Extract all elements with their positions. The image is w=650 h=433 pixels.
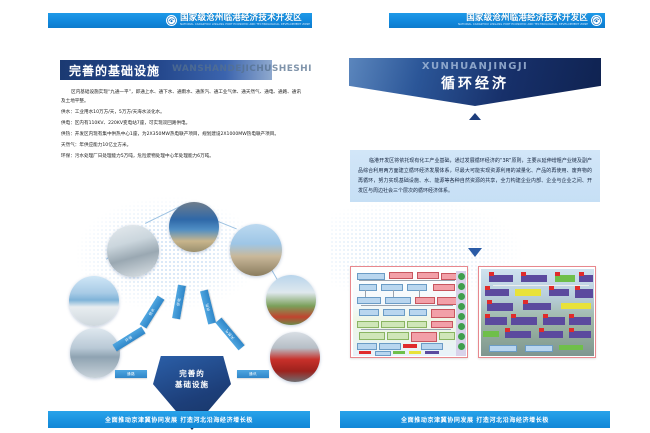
banner-pinyin: XUNHUANJINGJI [422,61,528,72]
paragraph-heat: 供热：开发区内现有集中供热中心1座，为2X350MW热电联产项目，规划建设2X1… [61,130,301,139]
infrastructure-body-text: 区内基础设施实现“九通一平”，即通上水、通下水、通雨水、通蒸汽、通工业气体、通天… [61,88,301,163]
banner-accent-triangle-icon [469,113,481,120]
photo-fire-truck [270,332,320,382]
diagram-circular-economy-flowchart-1 [350,266,468,358]
photo-greenhouse [266,275,316,325]
paragraph-gas: 天然气：年供应能力10亿立方米。 [61,141,301,150]
zone-logo-icon [166,15,177,26]
header-title-cn-right: 国家级沧州临港经济技术开发区 [466,14,588,23]
bubble-railway-photo [107,225,159,277]
diagram-canvas-2 [481,269,594,356]
header-bar-right: 国家级沧州临港经济技术开发区 NATIONAL CANGZHOU LINGANG… [389,13,605,28]
footer-bar-right: 全面推动京津冀协同发展 打造河北沿海经济增长极 [340,411,610,428]
down-arrow-icon [468,248,482,257]
tag-item: 环保 [112,327,145,352]
paragraph-overview: 区内基础设施实现“九通一平”，即通上水、通下水、通雨水、通蒸汽、通工业气体、通天… [61,88,301,107]
header-title-en-right: NATIONAL CANGZHOU LINGANG PORT ECONOMIC … [458,24,588,27]
bubble-greenhouse-photo [266,275,316,325]
photo-railway [107,225,159,277]
diamond-label-line2: 基础设施 [175,379,209,390]
bubble-powerplant-photo [230,224,282,276]
right-panel: XUNHUANJINGJI 循环经济 临港开发区将依托现有化工产业基础，通过发展… [340,40,610,405]
bubble-coast-photo [69,276,119,326]
photo-coast [69,276,119,326]
tag-item: 供电 [172,285,186,320]
photo-power-plant [230,224,282,276]
diagram-industry-chain-flowchart-2 [478,266,596,358]
photo-gantry-crane [169,202,219,252]
bubble-highway-photo [70,328,120,378]
footer-slogan-right: 全面推动京津冀协同发展 打造河北沿海经济增长极 [401,415,549,424]
tag-item: 供热 [200,290,216,325]
tag-item: 天然气 [215,318,244,351]
left-panel: 完善的基础设施 WANSHANDEJICHUSHESHI 区内基础设施实现“九通… [48,40,310,405]
footer-slogan-left: 全面推动京津冀协同发展 打造河北沿海经济增长极 [105,415,253,424]
header-bar-left: 国家级沧州临港经济技术开发区 NATIONAL CANGZHOU LINGANG… [48,13,312,28]
section-title-pinyin: WANSHANDEJICHUSHESHI [172,64,312,74]
poster-page: 国家级沧州临港经济技术开发区 NATIONAL CANGZHOU LINGANG… [0,0,650,433]
header-title-cn-left: 国家级沧州临港经济技术开发区 [180,14,310,23]
tag-item: 通讯 [237,370,269,378]
tag-item: 供水 [140,295,165,328]
diamond-label-line1: 完善的 [179,368,205,379]
bubble-firetruck-photo [270,332,320,382]
paragraph-power: 供电：区内有110KV、220KV变电站7座，可实现双回路供电。 [61,119,301,128]
section-title-infrastructure: 完善的基础设施 WANSHANDEJICHUSHESHI [60,60,272,80]
photo-highway [70,328,120,378]
header-title-en-left: NATIONAL CANGZHOU LINGANG PORT ECONOMIC … [180,24,310,27]
section-title-cn: 完善的基础设施 [60,62,160,79]
circular-economy-body-text: 临港开发区将依托现有化工产业基础，通过发展循环经济的“3R”原则，主要从延伸增粗… [350,150,600,202]
diagram-canvas-1 [353,269,466,356]
banner-title-cn: 循环经济 [441,73,509,93]
footer-bar-left: 全面推动京津冀协同发展 打造河北沿海经济增长极 [48,411,310,428]
bubble-gantry-photo [169,202,219,252]
paragraph-environment: 环保：污水处理厂日处理能力5万吨，危险废物处理中心年处理能力6万吨。 [61,152,301,161]
paragraph-water: 供水：工业用水10万方/天，5万方/天海水淡化水。 [61,108,301,117]
zone-logo-icon-right [591,15,602,26]
section-banner-circular-economy: XUNHUANJINGJI 循环经济 [349,58,601,106]
tag-item: 通路 [115,370,147,378]
